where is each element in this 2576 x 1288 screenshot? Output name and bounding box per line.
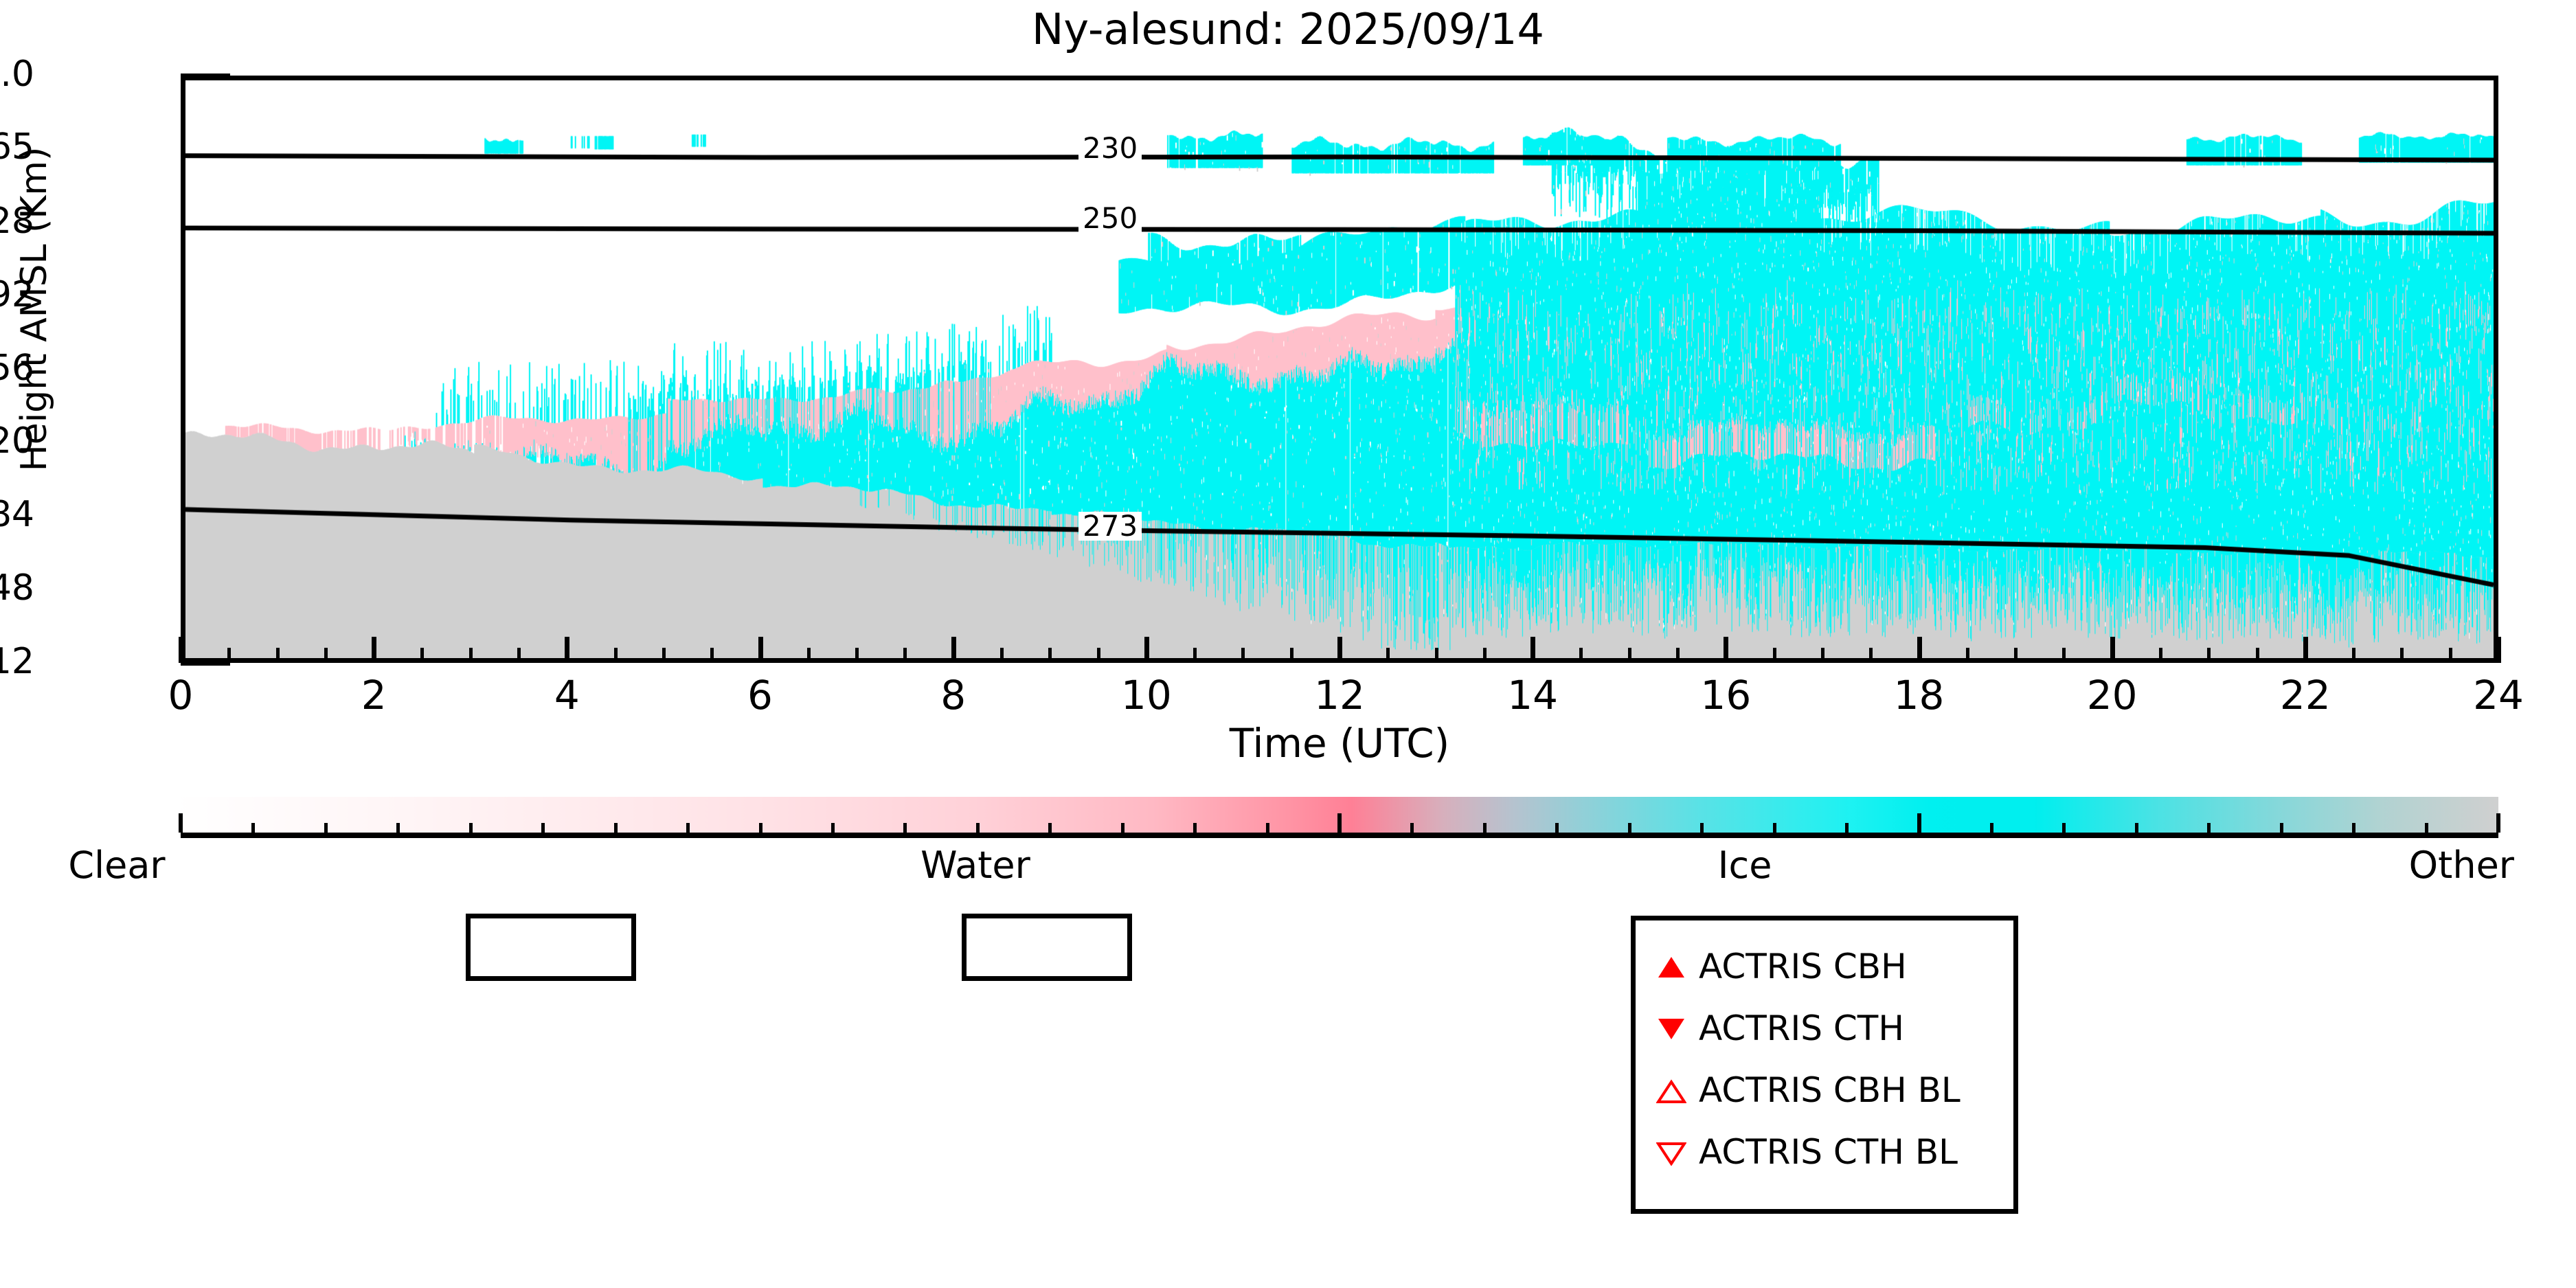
x-minor-tick — [1193, 648, 1197, 663]
page-title: Ny-alesund: 2025/09/14 — [0, 4, 2576, 54]
empty-legend-box-right[interactable] — [962, 914, 1132, 981]
colorbar-tick — [2207, 823, 2211, 833]
colorbar-tick — [1193, 823, 1197, 833]
x-minor-tick — [2256, 648, 2259, 663]
colorbar-tick — [2135, 823, 2138, 833]
y-tick-label: 4.20 — [0, 420, 34, 462]
x-tick-label: 12 — [1285, 672, 1394, 719]
x-minor-tick — [855, 648, 859, 663]
y-tick-label: 8.28 — [0, 201, 34, 242]
x-minor-tick — [2159, 648, 2162, 663]
colorbar-tick — [1121, 823, 1125, 833]
x-minor-tick — [710, 648, 714, 663]
legend-label-actris-cth-bl: ACTRIS CTH BL — [1699, 1132, 1958, 1172]
triangle-up-filled-icon — [1653, 949, 1689, 984]
colorbar-tick — [1700, 823, 1704, 833]
colorbar-tick — [1410, 823, 1414, 833]
colorbar-label-water: Water — [920, 844, 1030, 887]
x-tick-mark — [1724, 637, 1728, 663]
colorbar-tick — [396, 823, 400, 833]
y-tick-label: 0.12 — [0, 641, 34, 682]
x-minor-tick — [662, 648, 666, 663]
legend-label-actris-cbh: ACTRIS CBH — [1699, 947, 1907, 986]
colorbar-tick — [1337, 813, 1342, 833]
x-minor-tick — [1676, 648, 1680, 663]
x-tick-mark — [1337, 637, 1342, 663]
x-minor-tick — [2014, 648, 2018, 663]
x-minor-tick — [420, 648, 424, 663]
chart-root: Ny-alesund: 2025/09/14 Height AMSL (Km) … — [0, 0, 2576, 1288]
colorbar-tick — [831, 823, 835, 833]
cloud-phase-heatmap — [185, 80, 2494, 658]
colorbar-tick — [2352, 823, 2355, 833]
x-minor-tick — [1869, 648, 1873, 663]
colorbar-axis-line — [181, 833, 2498, 838]
colorbar-tick — [1917, 813, 1921, 833]
colorbar-tick — [686, 823, 690, 833]
x-tick-label: 10 — [1092, 672, 1201, 719]
y-tick-label: 1.48 — [0, 567, 34, 609]
colorbar-tick — [2062, 823, 2066, 833]
x-minor-tick — [276, 648, 280, 663]
colorbar-tick — [1483, 823, 1487, 833]
x-tick-label: 18 — [1864, 672, 1974, 719]
colorbar-tick — [1555, 823, 1559, 833]
x-tick-label: 2 — [319, 672, 429, 719]
x-minor-tick — [2400, 648, 2404, 663]
colorbar-tick — [1845, 823, 1849, 833]
x-minor-tick — [1628, 648, 1631, 663]
colorbar-tick — [1990, 823, 1993, 833]
legend-label-actris-cbh-bl: ACTRIS CBH BL — [1699, 1070, 1961, 1110]
x-minor-tick — [614, 648, 618, 663]
legend-row-actris-cbh-bl[interactable]: ACTRIS CBH BL — [1653, 1059, 2013, 1121]
colorbar-tick — [1048, 823, 1052, 833]
x-minor-tick — [807, 648, 811, 663]
x-minor-tick — [324, 648, 328, 663]
x-minor-tick — [517, 648, 521, 663]
x-minor-tick — [227, 648, 231, 663]
colorbar-tick — [2496, 813, 2500, 833]
x-minor-tick — [1435, 648, 1438, 663]
contour-label-230: 230 — [1078, 134, 1142, 163]
x-tick-mark — [372, 637, 376, 663]
triangle-down-open-icon — [1653, 1134, 1689, 1170]
colorbar-tick — [2280, 823, 2283, 833]
colorbar-tick — [903, 823, 907, 833]
colorbar-tick — [1773, 823, 1776, 833]
contour-label-250: 250 — [1078, 204, 1142, 233]
x-tick-mark — [2496, 637, 2501, 663]
colorbar — [181, 797, 2498, 838]
x-tick-label: 4 — [512, 672, 622, 719]
colorbar-tick — [469, 823, 473, 833]
x-minor-tick — [1483, 648, 1487, 663]
legend-row-actris-cbh[interactable]: ACTRIS CBH — [1653, 936, 2013, 997]
x-tick-label: 16 — [1671, 672, 1781, 719]
x-tick-mark — [565, 637, 569, 663]
x-tick-mark — [1144, 637, 1149, 663]
colorbar-label-clear: Clear — [68, 844, 165, 887]
colorbar-tick — [324, 823, 328, 833]
x-minor-tick — [1290, 648, 1293, 663]
x-minor-tick — [2352, 648, 2355, 663]
x-tick-label: 20 — [2057, 672, 2167, 719]
x-tick-mark — [179, 637, 183, 663]
x-minor-tick — [1821, 648, 1824, 663]
colorbar-tick — [179, 813, 183, 833]
triangle-down-filled-icon — [1653, 1010, 1689, 1046]
x-minor-tick — [2062, 648, 2066, 663]
legend-row-actris-cth-bl[interactable]: ACTRIS CTH BL — [1653, 1121, 2013, 1183]
x-minor-tick — [2449, 648, 2452, 663]
x-tick-mark — [1917, 637, 1922, 663]
plot-area — [181, 76, 2498, 663]
x-minor-tick — [1048, 648, 1052, 663]
x-minor-tick — [469, 648, 473, 663]
colorbar-tick — [976, 823, 980, 833]
x-tick-label: 0 — [126, 672, 236, 719]
x-minor-tick — [1000, 648, 1004, 663]
colorbar-tick — [614, 823, 618, 833]
colorbar-tick — [541, 823, 545, 833]
colorbar-label-ice: Ice — [1718, 844, 1772, 887]
x-minor-tick — [1097, 648, 1100, 663]
contour-label-273: 273 — [1078, 512, 1142, 541]
x-tick-label: 6 — [705, 672, 815, 719]
x-minor-tick — [2207, 648, 2211, 663]
x-tick-mark — [2303, 637, 2308, 663]
y-tick-label: 2.84 — [0, 494, 34, 535]
x-minor-tick — [1241, 648, 1245, 663]
colorbar-tick — [1628, 823, 1631, 833]
triangle-up-open-icon — [1653, 1072, 1689, 1108]
x-minor-tick — [903, 648, 907, 663]
x-minor-tick — [1386, 648, 1390, 663]
x-tick-mark — [758, 637, 763, 663]
x-minor-tick — [1966, 648, 1969, 663]
legend-label-actris-cth: ACTRIS CTH — [1699, 1008, 1904, 1048]
colorbar-tick — [759, 823, 762, 833]
colorbar-tick — [251, 823, 255, 833]
x-tick-label: 22 — [2250, 672, 2360, 719]
colorbar-label-other: Other — [2409, 844, 2514, 887]
colorbar-tick — [1266, 823, 1269, 833]
legend-row-actris-cth[interactable]: ACTRIS CTH — [1653, 997, 2013, 1059]
y-tick-label: 5.56 — [0, 348, 34, 389]
x-axis-label: Time (UTC) — [181, 720, 2498, 767]
x-tick-label: 24 — [2443, 672, 2553, 719]
x-tick-mark — [951, 637, 956, 663]
x-tick-label: 8 — [899, 672, 1008, 719]
x-tick-mark — [2110, 637, 2115, 663]
y-tick-label: 11.0 — [0, 54, 34, 95]
y-tick-label: 9.65 — [0, 126, 34, 168]
x-minor-tick — [1579, 648, 1583, 663]
x-tick-label: 14 — [1478, 672, 1588, 719]
x-minor-tick — [1773, 648, 1776, 663]
y-tick-label: 6.92 — [0, 274, 34, 315]
colorbar-tick — [2425, 823, 2428, 833]
actris-legend: ACTRIS CBH ACTRIS CTH ACTRIS CBH BL ACTR… — [1631, 916, 2018, 1214]
empty-legend-box-left[interactable] — [466, 914, 636, 981]
x-tick-mark — [1530, 637, 1535, 663]
